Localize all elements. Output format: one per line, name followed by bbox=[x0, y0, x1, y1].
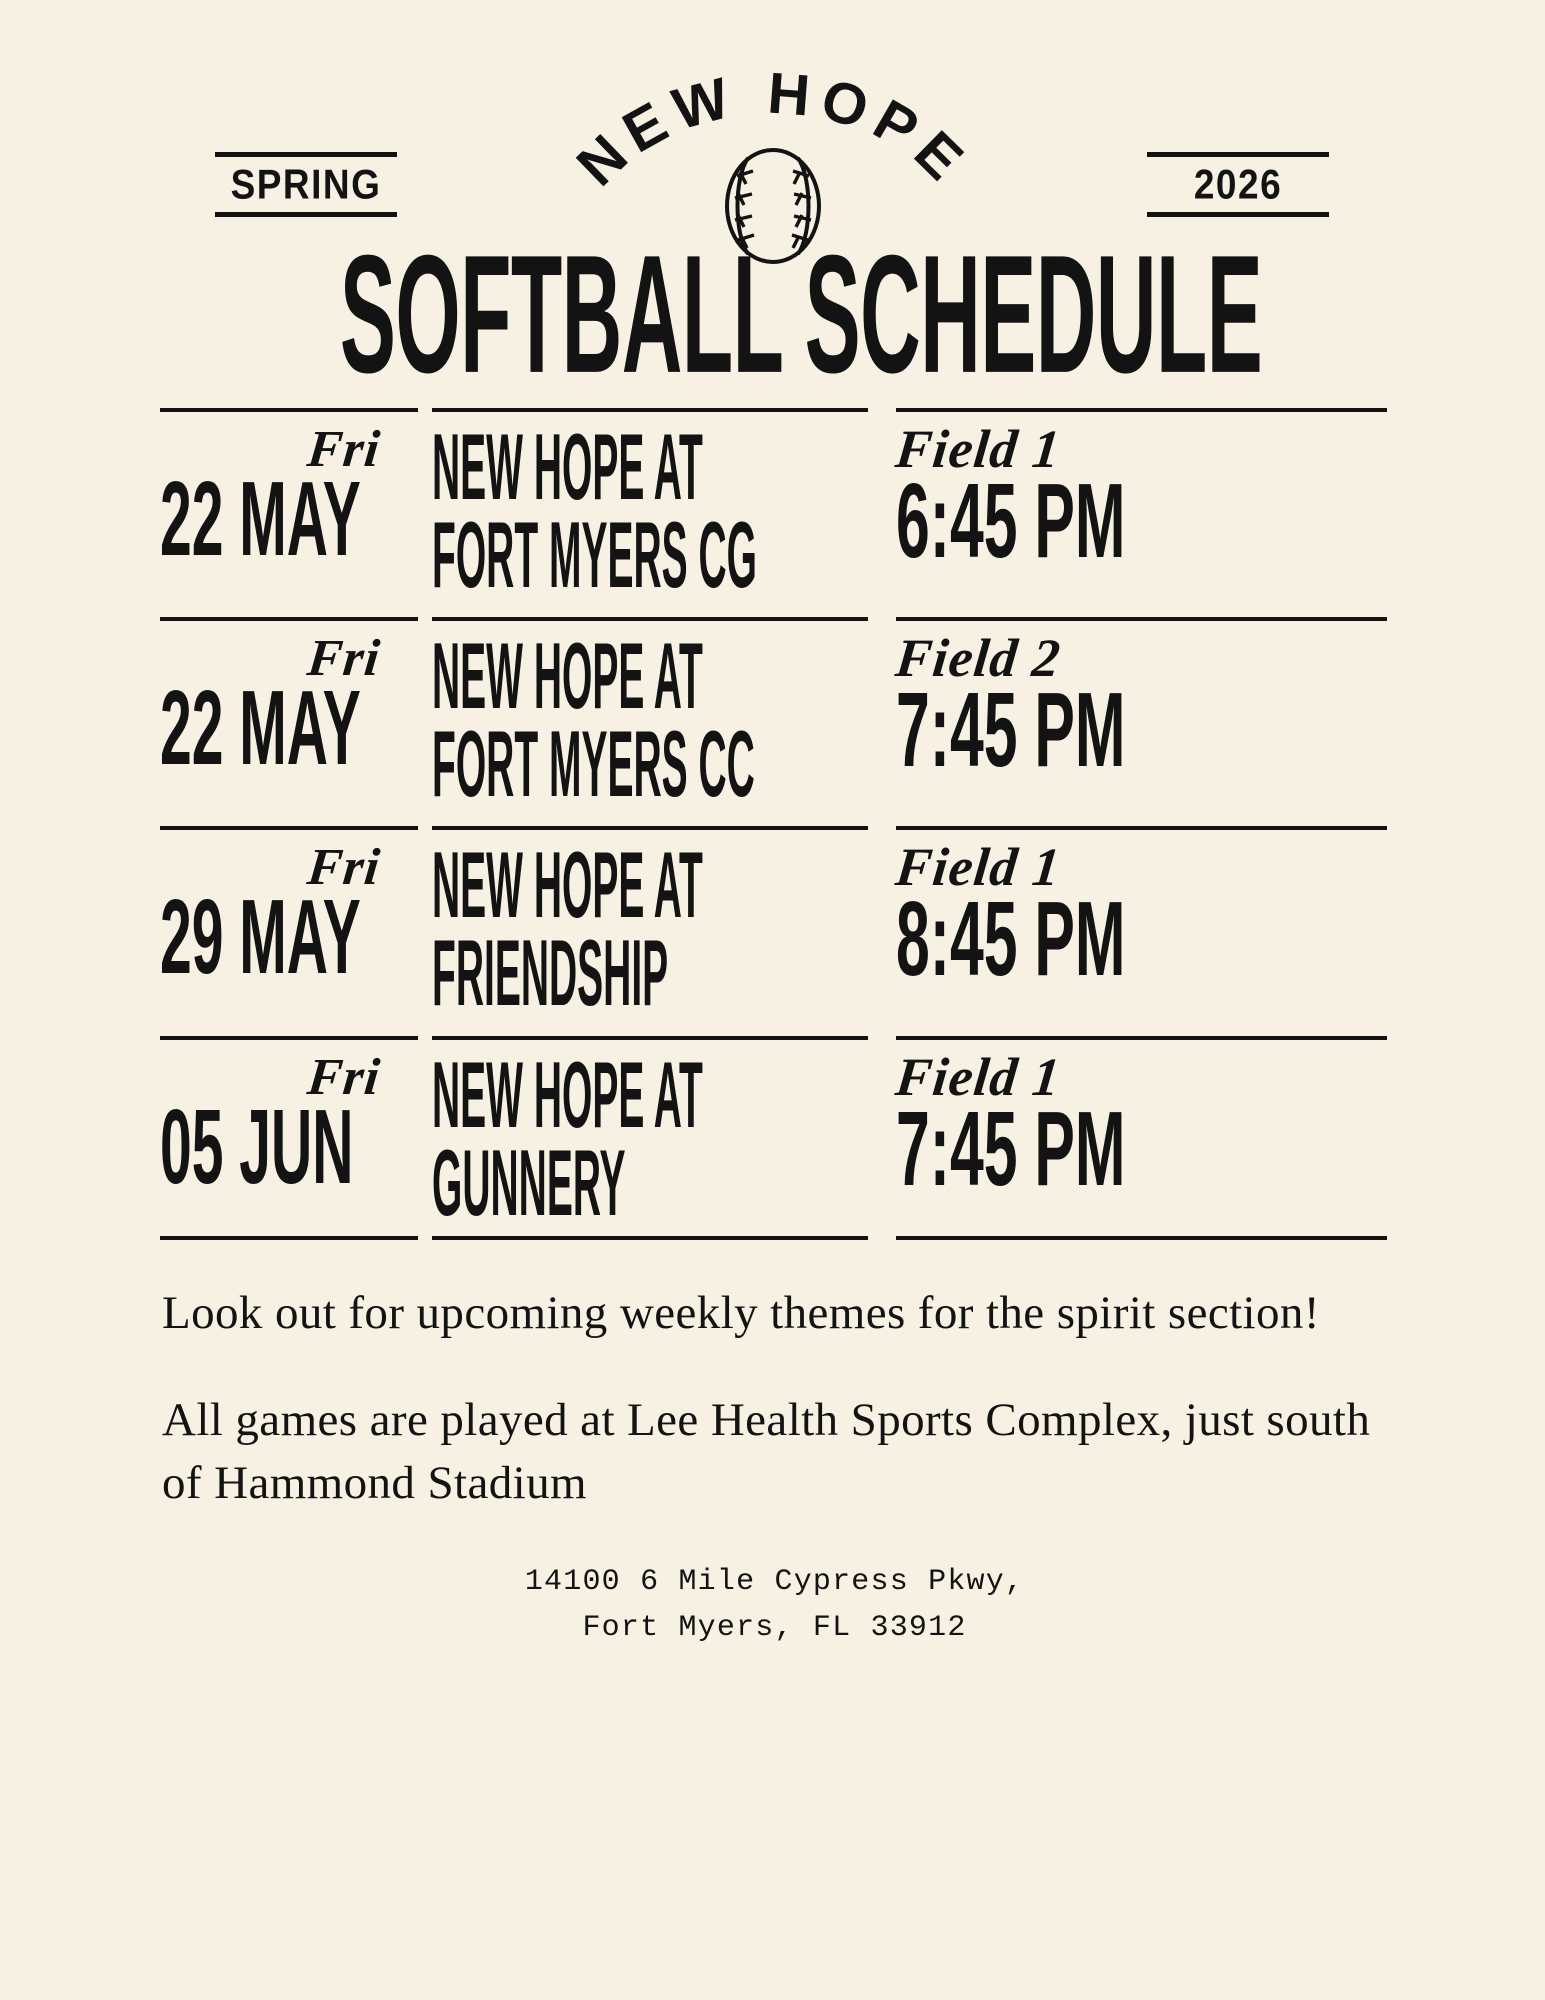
poster-footer: Look out for upcoming weekly themes for … bbox=[0, 1236, 1545, 1652]
row-date-cell: Fri 22 MAY bbox=[160, 408, 418, 608]
footer-note-themes: Look out for upcoming weekly themes for … bbox=[162, 1282, 1387, 1345]
row-date: 22 MAY bbox=[160, 681, 306, 806]
poster-header: SPRING 2026 NEW HOPE bbox=[0, 0, 1545, 250]
year-badge: 2026 bbox=[1147, 152, 1329, 217]
row-matchup-cell: NEW HOPE AT FORT MYERS CG bbox=[432, 408, 868, 608]
row-matchup-line2: FORT MYERS CG bbox=[432, 510, 650, 628]
season-badge-rule-bottom bbox=[215, 212, 397, 217]
season-label: SPRING bbox=[215, 164, 397, 205]
row-time: 7:45 PM bbox=[896, 1102, 1220, 1227]
row-location-cell: Field 1 7:45 PM bbox=[896, 1036, 1387, 1236]
row-matchup-cell: NEW HOPE AT FORT MYERS CC bbox=[432, 617, 868, 817]
row-location-cell: Field 1 8:45 PM bbox=[896, 826, 1387, 1026]
row-time: 6:45 PM bbox=[896, 474, 1220, 599]
row-date: 05 JUN bbox=[160, 1100, 306, 1225]
year-badge-rule-bottom bbox=[1147, 212, 1329, 217]
row-time: 8:45 PM bbox=[896, 892, 1220, 1017]
table-row: Fri 22 MAY NEW HOPE AT FORT MYERS CG Fie… bbox=[160, 399, 1387, 608]
year-badge-rule-top bbox=[1147, 152, 1329, 157]
year-label: 2026 bbox=[1147, 164, 1329, 205]
row-location-cell: Field 2 7:45 PM bbox=[896, 617, 1387, 817]
schedule-table: Fri 22 MAY NEW HOPE AT FORT MYERS CG Fie… bbox=[0, 399, 1545, 1236]
table-row: Fri 22 MAY NEW HOPE AT FORT MYERS CC Fie… bbox=[160, 608, 1387, 817]
row-matchup-line2: FORT MYERS CC bbox=[432, 719, 650, 837]
season-badge: SPRING bbox=[215, 152, 397, 217]
row-matchup-cell: NEW HOPE AT FRIENDSHIP bbox=[432, 826, 868, 1026]
crest-arc-text: NEW HOPE bbox=[564, 61, 981, 199]
table-row: Fri 29 MAY NEW HOPE AT FRIENDSHIP Field … bbox=[160, 817, 1387, 1026]
row-date-cell: Fri 22 MAY bbox=[160, 617, 418, 817]
venue-address: 14100 6 Mile Cypress Pkwy, Fort Myers, F… bbox=[162, 1559, 1387, 1652]
softball-schedule-poster: SPRING 2026 NEW HOPE bbox=[0, 0, 1545, 2000]
footer-note-venue: All games are played at Lee Health Sport… bbox=[162, 1389, 1387, 1515]
season-badge-rule-top bbox=[215, 152, 397, 157]
row-matchup-line2: FRIENDSHIP bbox=[432, 928, 650, 1046]
row-time: 7:45 PM bbox=[896, 683, 1220, 808]
address-line-1: 14100 6 Mile Cypress Pkwy, bbox=[162, 1559, 1387, 1606]
crest-arc-textpath: NEW HOPE bbox=[564, 61, 981, 199]
row-location-cell: Field 1 6:45 PM bbox=[896, 408, 1387, 608]
page-title: SOFTBALL SCHEDULE bbox=[340, 242, 1205, 386]
row-matchup-cell: NEW HOPE AT GUNNERY bbox=[432, 1036, 868, 1236]
row-date: 22 MAY bbox=[160, 472, 306, 597]
row-date-cell: Fri 29 MAY bbox=[160, 826, 418, 1026]
address-line-2: Fort Myers, FL 33912 bbox=[162, 1605, 1387, 1652]
row-date: 29 MAY bbox=[160, 890, 306, 1015]
table-row: Fri 05 JUN NEW HOPE AT GUNNERY Field 1 7… bbox=[160, 1027, 1387, 1236]
row-date-cell: Fri 05 JUN bbox=[160, 1036, 418, 1236]
